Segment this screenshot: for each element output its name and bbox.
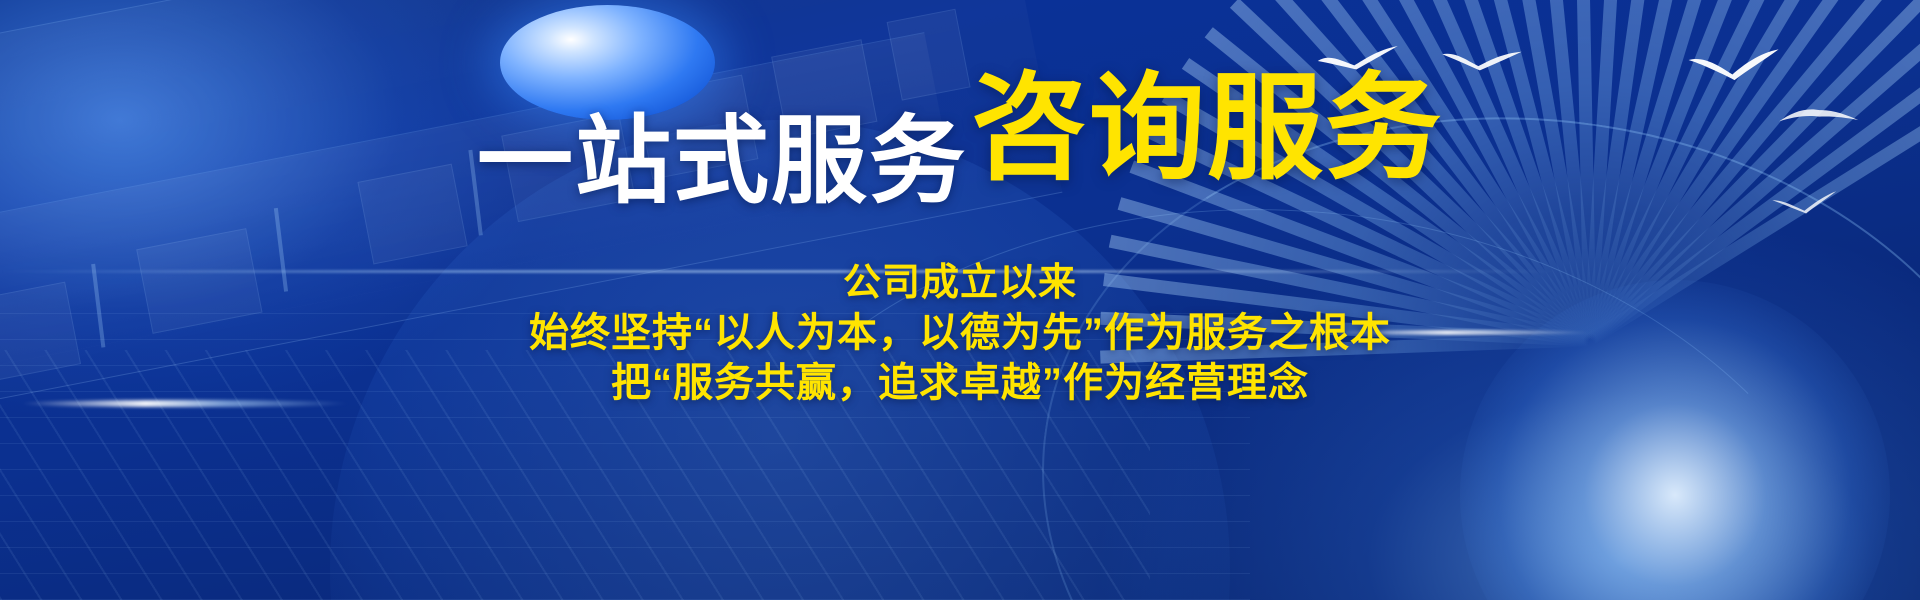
headline-primary: 一站式服务 (477, 108, 967, 215)
body-line: 始终坚持“以人为本，以德为先”作为服务之根本 (0, 308, 1920, 358)
body-line: 公司成立以来 (0, 258, 1920, 308)
promo-banner: 一站式服务咨询服务 公司成立以来 始终坚持“以人为本，以德为先”作为服务之根本 … (0, 0, 1920, 600)
body-line: 把“服务共赢，追求卓越”作为经营理念 (0, 358, 1920, 408)
body-copy: 公司成立以来 始终坚持“以人为本，以德为先”作为服务之根本 把“服务共赢，追求卓… (0, 258, 1920, 408)
headline: 一站式服务咨询服务 (0, 60, 1920, 228)
headline-accent: 咨询服务 (971, 63, 1443, 193)
